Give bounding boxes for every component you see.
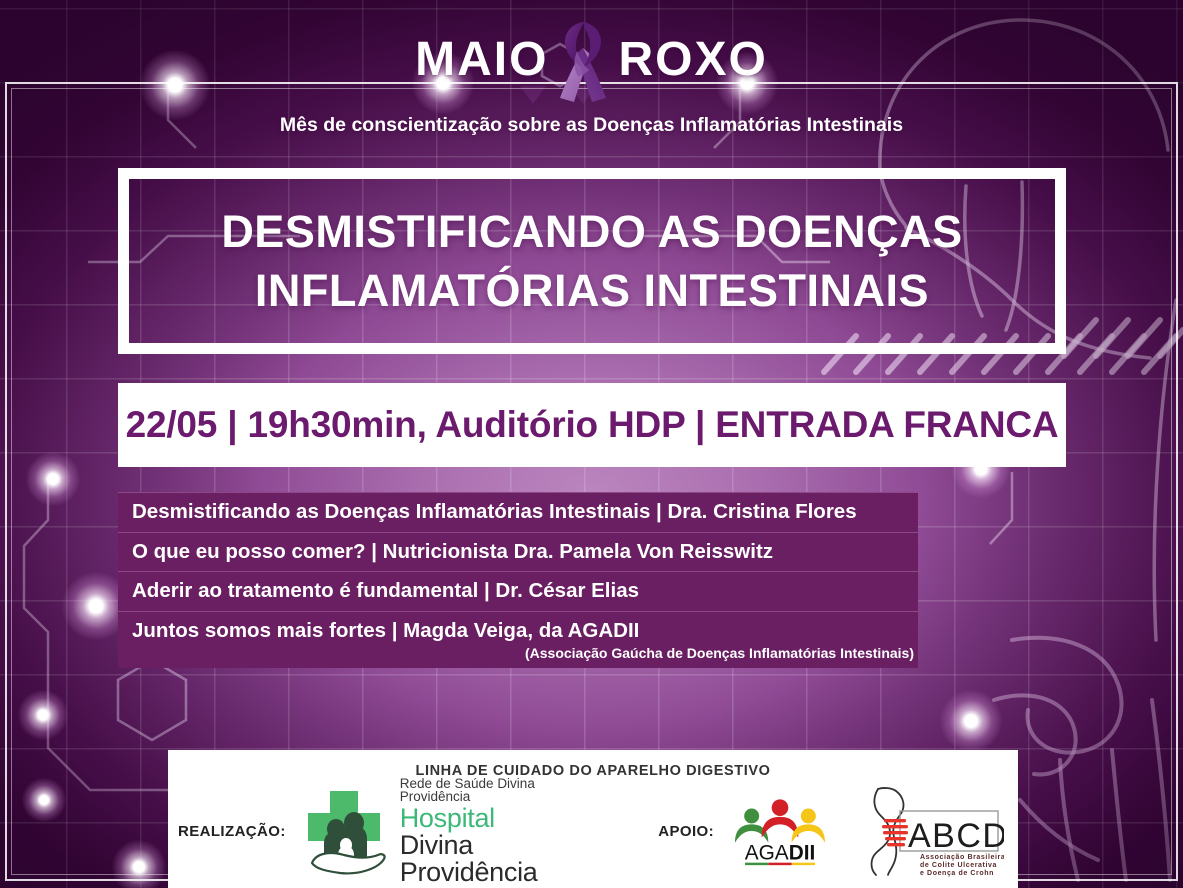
main-title-box: DESMISTIFICANDO AS DOENÇAS INFLAMATÓRIAS…	[118, 168, 1066, 354]
hospital-name-line-2: Divina Providência	[400, 832, 599, 886]
program-item: Desmistificando as Doenças Inflamatórias…	[118, 492, 918, 533]
hospital-network-name: Rede de Saúde Divina Providência	[400, 777, 599, 804]
poster-canvas: MAIO	[0, 0, 1183, 888]
agadii-name-plain: AGA	[745, 841, 789, 864]
abcd-subtitle-line-1: Associação Brasileira	[920, 854, 1004, 861]
awareness-ribbon-icon	[550, 18, 616, 102]
glow-dot	[22, 778, 66, 822]
svg-text:AGADII: AGADII	[745, 841, 816, 864]
abcd-acronym: ABCD	[908, 817, 1004, 855]
hospital-wordmark: Rede de Saúde Divina Providência Hospita…	[400, 777, 599, 886]
abcd-subtitle-line-3: e Doença de Crohn	[920, 870, 994, 877]
program-list: Desmistificando as Doenças Inflamatórias…	[118, 492, 918, 668]
agadii-name-bold: DII	[789, 841, 816, 864]
program-item: Aderir ao tratamento é fundamental | Dr.…	[118, 572, 918, 612]
glow-dot	[940, 690, 1002, 752]
main-title: DESMISTIFICANDO AS DOENÇAS INFLAMATÓRIAS…	[207, 202, 976, 321]
apoio-label: APOIO:	[658, 823, 714, 840]
intestine-outline-icon: ABCD Associação Brasileira de Colite Ulc…	[854, 785, 1004, 877]
sponsor-footer: LINHA DE CUIDADO DO APARELHO DIGESTIVO R…	[168, 750, 1018, 888]
program-footnote: (Associação Gaúcha de Doenças Inflamatór…	[118, 645, 918, 668]
three-people-figures-icon: AGADII	[730, 796, 830, 866]
abcd-subtitle-line-2: de Colite Ulcerativa	[920, 862, 997, 869]
green-cross-caring-hands-icon	[296, 785, 392, 877]
hospital-name-line-1: Hospital	[400, 805, 599, 832]
campaign-word-maio: MAIO	[415, 36, 548, 84]
program-item: O que eu posso comer? | Nutricionista Dr…	[118, 533, 918, 573]
poster-header: MAIO	[0, 0, 1183, 137]
main-title-line-2: INFLAMATÓRIAS INTESTINAIS	[221, 261, 962, 320]
main-title-line-1: DESMISTIFICANDO AS DOENÇAS	[221, 202, 962, 261]
abcd-logo: ABCD Associação Brasileira de Colite Ulc…	[854, 785, 1004, 877]
event-date-bar: 22/05 | 19h30min, Auditório HDP | ENTRAD…	[118, 383, 1066, 467]
event-date-text: 22/05 | 19h30min, Auditório HDP | ENTRAD…	[126, 404, 1059, 446]
campaign-subtitle: Mês de conscientização sobre as Doenças …	[0, 114, 1183, 137]
glow-dot	[112, 840, 166, 888]
agadii-logo: AGADII	[730, 796, 830, 866]
campaign-word-roxo: ROXO	[618, 36, 767, 84]
glow-dot	[26, 452, 80, 506]
footer-logos-row: REALIZAÇÃO: Rede de Saúde Divina Providê…	[168, 779, 1018, 883]
hospital-divina-providencia-logo: Rede de Saúde Divina Providência Hospita…	[296, 777, 599, 886]
glow-dot	[18, 690, 68, 740]
campaign-brand: MAIO	[0, 0, 1183, 102]
footer-heading: LINHA DE CUIDADO DO APARELHO DIGESTIVO	[168, 750, 1018, 779]
realizacao-label: REALIZAÇÃO:	[178, 823, 286, 840]
